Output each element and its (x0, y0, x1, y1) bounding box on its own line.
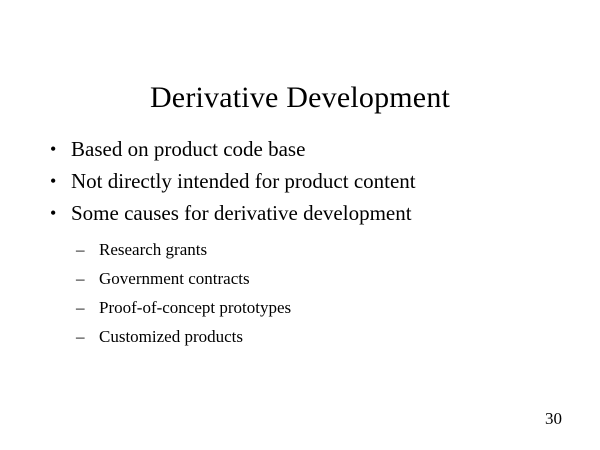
dash-bullet-icon: – (76, 293, 85, 322)
list-item: – Customized products (44, 322, 564, 351)
dash-bullet-icon: – (76, 264, 85, 293)
bullet-list-level2: – Research grants – Government contracts… (44, 235, 564, 351)
bullet-point-icon: • (50, 165, 56, 197)
page-title: Derivative Development (0, 80, 600, 116)
list-item-label: Proof-of-concept prototypes (99, 298, 291, 317)
slide-body: • Based on product code base • Not direc… (44, 133, 564, 351)
list-item: • Based on product code base (44, 133, 564, 165)
list-item: – Research grants (44, 235, 564, 264)
list-item-label: Some causes for derivative development (71, 201, 412, 225)
bullet-point-icon: • (50, 133, 56, 165)
bullet-point-icon: • (50, 197, 56, 229)
list-item: – Government contracts (44, 264, 564, 293)
bullet-list-level1: • Based on product code base • Not direc… (44, 133, 564, 229)
dash-bullet-icon: – (76, 322, 85, 351)
presentation-slide: Derivative Development • Based on produc… (0, 0, 600, 450)
list-item: – Proof-of-concept prototypes (44, 293, 564, 322)
list-item-label: Not directly intended for product conten… (71, 169, 416, 193)
list-item: • Not directly intended for product cont… (44, 165, 564, 197)
list-item-label: Government contracts (99, 269, 250, 288)
dash-bullet-icon: – (76, 235, 85, 264)
list-item-label: Customized products (99, 327, 243, 346)
list-item: • Some causes for derivative development (44, 197, 564, 229)
page-number: 30 (545, 408, 562, 430)
list-item-label: Research grants (99, 240, 207, 259)
list-item-label: Based on product code base (71, 137, 305, 161)
